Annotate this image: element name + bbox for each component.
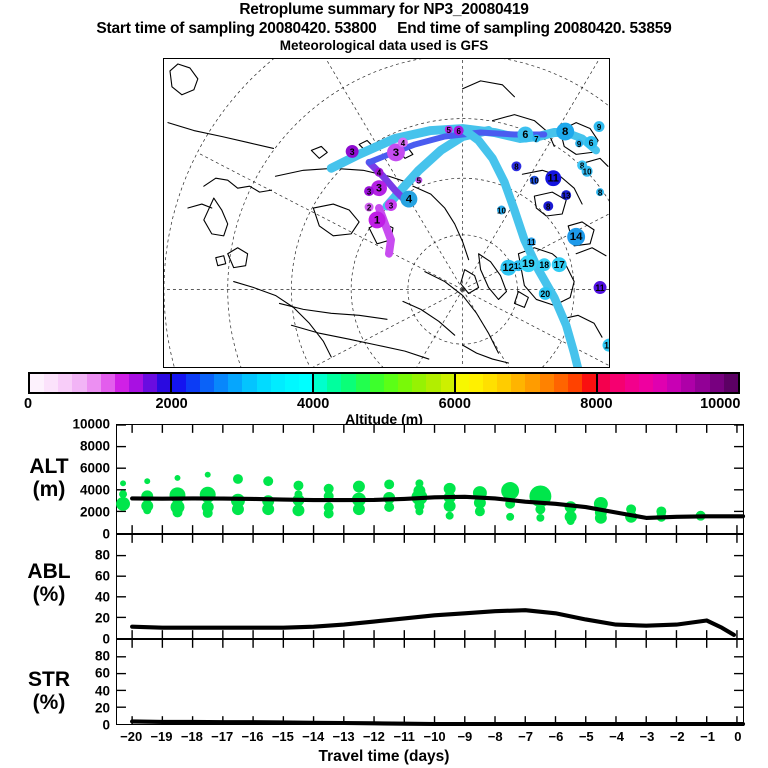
map-point-label: 4 bbox=[377, 169, 382, 178]
colorbar-divider bbox=[312, 372, 314, 394]
colorbar-segment-26 bbox=[398, 374, 412, 392]
alt-ytick-4000: 4000 bbox=[52, 483, 110, 498]
abl-ytick-20: 20 bbox=[52, 611, 110, 626]
map-point-label: 11 bbox=[527, 238, 536, 247]
xtick--17: −17 bbox=[211, 729, 233, 744]
alt-scatter-point bbox=[506, 513, 514, 521]
map-point-label: 10 bbox=[497, 206, 506, 215]
alt-scatter-point bbox=[384, 479, 394, 489]
colorbar-tick-4000: 4000 bbox=[297, 396, 329, 412]
colorbar-segment-45 bbox=[667, 374, 681, 392]
abl-chart-panel[interactable] bbox=[116, 534, 744, 639]
colorbar-segment-0 bbox=[30, 374, 44, 392]
map-point-label: 7 bbox=[534, 135, 539, 144]
colorbar-segment-20 bbox=[313, 374, 327, 392]
xtick-0: 0 bbox=[734, 729, 741, 744]
colorbar-segment-35 bbox=[525, 374, 539, 392]
str-ytick-40: 40 bbox=[52, 683, 110, 698]
alt-scatter-point bbox=[116, 497, 130, 511]
xtick--18: −18 bbox=[181, 729, 203, 744]
colorbar-divider bbox=[454, 372, 456, 394]
map-point-label: 10 bbox=[583, 168, 592, 177]
alt-scatter-point bbox=[415, 507, 423, 515]
xtick--1: −1 bbox=[700, 729, 715, 744]
colorbar-segment-34 bbox=[511, 374, 525, 392]
colorbar-tick-10000: 10000 bbox=[700, 396, 740, 412]
map-point-label: 9 bbox=[577, 140, 582, 149]
xtick--19: −19 bbox=[150, 729, 172, 744]
alt-scatter-point bbox=[475, 506, 485, 516]
xtick--8: −8 bbox=[488, 729, 503, 744]
alt-scatter-point bbox=[384, 502, 394, 512]
alt-scatter-point bbox=[501, 482, 519, 500]
colorbar-segment-49 bbox=[724, 374, 738, 392]
colorbar-segment-15 bbox=[242, 374, 256, 392]
xtick--9: −9 bbox=[457, 729, 472, 744]
alt-ytick-0: 0 bbox=[52, 527, 110, 542]
abl-ytick-60: 60 bbox=[52, 569, 110, 584]
colorbar-tick-0: 0 bbox=[24, 396, 32, 412]
colorbar-segment-23 bbox=[356, 374, 370, 392]
header-block: Retroplume summary for NP3_20080419 Star… bbox=[0, 0, 768, 54]
colorbar-segment-16 bbox=[257, 374, 271, 392]
abl-ytick-0: 0 bbox=[52, 632, 110, 647]
alt-scatter-point bbox=[233, 474, 243, 484]
alt-scatter-point bbox=[292, 504, 304, 516]
abl-ytick-40: 40 bbox=[52, 590, 110, 605]
alt-scatter-point bbox=[595, 512, 607, 524]
map-point-label: 18 bbox=[539, 260, 549, 270]
map-point-label: 6 bbox=[522, 129, 528, 141]
colorbar-segment-2 bbox=[58, 374, 72, 392]
map-point-label: 12 bbox=[502, 262, 514, 274]
map-point-label: 6 bbox=[456, 127, 461, 136]
xtick--16: −16 bbox=[241, 729, 263, 744]
map-point-label: 3 bbox=[350, 147, 355, 157]
colorbar-segment-42 bbox=[625, 374, 639, 392]
alt-ytick-2000: 2000 bbox=[52, 505, 110, 520]
colorbar-segment-30 bbox=[455, 374, 469, 392]
map-canvas: 1233333444556667888888999101010101011111… bbox=[164, 59, 609, 367]
xtick--7: −7 bbox=[518, 729, 533, 744]
colorbar-segment-44 bbox=[653, 374, 667, 392]
alt-scatter-point bbox=[119, 490, 127, 498]
colorbar-segment-29 bbox=[441, 374, 455, 392]
colorbar-segment-1 bbox=[44, 374, 58, 392]
colorbar-segment-5 bbox=[101, 374, 115, 392]
colorbar-segment-18 bbox=[285, 374, 299, 392]
str-ytick-60: 60 bbox=[52, 666, 110, 681]
x-axis-title: Travel time (days) bbox=[0, 748, 768, 766]
map-point-label: 10 bbox=[530, 177, 539, 186]
str-series-line bbox=[132, 721, 743, 724]
colorbar-tick-2000: 2000 bbox=[155, 396, 187, 412]
colorbar-segment-25 bbox=[384, 374, 398, 392]
alt-series-line bbox=[132, 497, 743, 518]
map-point-label: 13 bbox=[562, 192, 571, 201]
xtick--10: −10 bbox=[424, 729, 446, 744]
alt-chart-canvas bbox=[117, 425, 743, 533]
map-point-label: 1 bbox=[374, 214, 381, 226]
map-point-label: 5 bbox=[447, 126, 452, 135]
alt-ytick-6000: 6000 bbox=[52, 461, 110, 476]
xtick--12: −12 bbox=[363, 729, 385, 744]
alt-scatter-point bbox=[144, 478, 150, 484]
xtick--2: −2 bbox=[670, 729, 685, 744]
colorbar-tick-8000: 8000 bbox=[580, 396, 612, 412]
colorbar-segment-46 bbox=[681, 374, 695, 392]
map-point-label: 8 bbox=[514, 163, 519, 172]
met-data-note: Meteorological data used is GFS bbox=[0, 38, 768, 54]
colorbar-segment-31 bbox=[469, 374, 483, 392]
colorbar-segment-40 bbox=[596, 374, 610, 392]
map-point-label: 13 bbox=[604, 341, 609, 351]
colorbar-segment-12 bbox=[200, 374, 214, 392]
colorbar-segment-36 bbox=[540, 374, 554, 392]
map-point-label: 8 bbox=[546, 202, 551, 211]
colorbar-segment-11 bbox=[186, 374, 200, 392]
colorbar-segment-14 bbox=[228, 374, 242, 392]
alt-ytick-10000: 10000 bbox=[52, 417, 110, 432]
alt-scatter-point bbox=[143, 506, 151, 514]
str-chart-canvas bbox=[117, 640, 743, 724]
map-point-label: 3 bbox=[389, 201, 394, 210]
colorbar-segment-21 bbox=[327, 374, 341, 392]
alt-scatter-point bbox=[353, 481, 365, 493]
map-point-label: 2 bbox=[367, 203, 372, 212]
map-point-label: 20 bbox=[540, 289, 550, 299]
str-ytick-20: 20 bbox=[52, 700, 110, 715]
alt-scatter-point bbox=[353, 503, 365, 515]
map-point-label: 4 bbox=[406, 193, 413, 205]
alt-scatter-point bbox=[203, 508, 213, 518]
alt-scatter-point bbox=[444, 500, 456, 512]
xtick--4: −4 bbox=[609, 729, 624, 744]
map-point-label: 6 bbox=[589, 138, 594, 148]
alt-scatter-point bbox=[293, 481, 303, 491]
alt-chart-panel[interactable] bbox=[116, 424, 744, 534]
colorbar-segment-43 bbox=[639, 374, 653, 392]
alt-scatter-point bbox=[567, 517, 575, 525]
altitude-colorbar bbox=[28, 372, 740, 394]
alt-scatter-point bbox=[262, 503, 274, 515]
map-point-label: 3 bbox=[367, 188, 372, 197]
colorbar-segment-37 bbox=[554, 374, 568, 392]
colorbar-segment-8 bbox=[143, 374, 157, 392]
colorbar-segment-32 bbox=[483, 374, 497, 392]
alt-scatter-point bbox=[174, 475, 180, 481]
colorbar-segment-3 bbox=[72, 374, 86, 392]
map-point-label: 11 bbox=[595, 283, 604, 293]
colorbar-segment-10 bbox=[172, 374, 186, 392]
str-ytick-0: 0 bbox=[52, 718, 110, 733]
colorbar-segment-17 bbox=[271, 374, 285, 392]
colorbar-divider bbox=[596, 372, 598, 394]
alt-scatter-point bbox=[232, 503, 244, 515]
colorbar-segment-41 bbox=[610, 374, 624, 392]
colorbar-segment-47 bbox=[695, 374, 709, 392]
map-point-label: 5 bbox=[417, 177, 422, 186]
colorbar-segment-19 bbox=[299, 374, 313, 392]
xtick--5: −5 bbox=[579, 729, 594, 744]
map-point-label: 9 bbox=[597, 123, 602, 132]
colorbar-segment-7 bbox=[129, 374, 143, 392]
xtick--14: −14 bbox=[302, 729, 324, 744]
alt-scatter-point bbox=[535, 504, 545, 514]
colorbar-segment-33 bbox=[497, 374, 511, 392]
colorbar-segment-22 bbox=[341, 374, 355, 392]
colorbar-divider bbox=[170, 372, 172, 394]
retroplume-map[interactable]: 1233333444556667888888999101010101011111… bbox=[163, 58, 610, 368]
map-point-label: 14 bbox=[570, 231, 583, 243]
abl-ytick-80: 80 bbox=[52, 548, 110, 563]
colorbar-segment-24 bbox=[370, 374, 384, 392]
map-point-label: 8 bbox=[598, 189, 603, 198]
alt-scatter-point bbox=[120, 480, 126, 486]
map-point-label: 3 bbox=[376, 183, 382, 195]
map-point-label: 8 bbox=[562, 126, 568, 138]
str-chart-panel[interactable] bbox=[116, 639, 744, 725]
alt-scatter-point bbox=[263, 476, 273, 486]
page-title: Retroplume summary for NP3_20080419 bbox=[0, 0, 768, 19]
abl-chart-canvas bbox=[117, 535, 743, 638]
colorbar-segment-28 bbox=[426, 374, 440, 392]
xtick--3: −3 bbox=[639, 729, 654, 744]
alt-scatter-point bbox=[172, 508, 182, 518]
colorbar-tick-6000: 6000 bbox=[439, 396, 471, 412]
alt-ytick-8000: 8000 bbox=[52, 439, 110, 454]
alt-scatter-point bbox=[536, 514, 544, 522]
alt-scatter-point bbox=[324, 509, 334, 519]
map-point-label: 3 bbox=[393, 147, 399, 159]
sampling-times: Start time of sampling 20080420. 53800 E… bbox=[0, 19, 768, 38]
str-ytick-80: 80 bbox=[52, 649, 110, 664]
colorbar-segment-38 bbox=[568, 374, 582, 392]
map-point-label: 17 bbox=[554, 260, 566, 271]
map-point-label: 19 bbox=[522, 258, 535, 270]
xtick--6: −6 bbox=[548, 729, 563, 744]
xtick--11: −11 bbox=[394, 729, 415, 744]
colorbar-segment-27 bbox=[412, 374, 426, 392]
map-point-label: 11 bbox=[548, 173, 559, 185]
map-point-label: 4 bbox=[401, 139, 406, 148]
colorbar-segment-4 bbox=[87, 374, 101, 392]
xtick--20: −20 bbox=[120, 729, 142, 744]
alt-scatter-point bbox=[205, 472, 211, 478]
xtick--15: −15 bbox=[272, 729, 294, 744]
colorbar-segment-39 bbox=[582, 374, 596, 392]
colorbar-segment-13 bbox=[214, 374, 228, 392]
xtick--13: −13 bbox=[333, 729, 355, 744]
colorbar-segment-6 bbox=[115, 374, 129, 392]
alt-scatter-point bbox=[446, 512, 454, 520]
colorbar-segment-48 bbox=[710, 374, 724, 392]
